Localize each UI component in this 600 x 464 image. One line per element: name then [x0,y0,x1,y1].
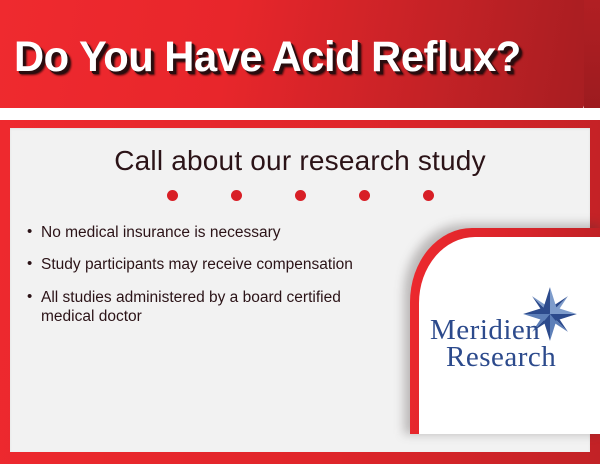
brand-logo: Meridien Research [410,228,591,425]
advertisement: Do You Have Acid Reflux? Call about our … [0,0,600,464]
dot-icon [423,190,434,201]
dot-icon [295,190,306,201]
logo-panel: Meridien Research [410,228,600,434]
list-item: All studies administered by a board cert… [26,288,376,327]
dot-icon [167,190,178,201]
header-right-edge [584,0,600,108]
list-item: Study participants may receive compensat… [26,255,376,274]
benefit-list: No medical insurance is necessary Study … [26,223,376,340]
dot-icon [231,190,242,201]
list-item: No medical insurance is necessary [26,223,376,242]
dot-separator [10,190,590,201]
dot-icon [359,190,370,201]
header-divider [0,108,600,120]
logo-text-line2: Research [446,341,556,374]
page-title: Do You Have Acid Reflux? [14,36,521,79]
subheading: Call about our research study [10,146,590,177]
header-banner: Do You Have Acid Reflux? [0,0,600,108]
